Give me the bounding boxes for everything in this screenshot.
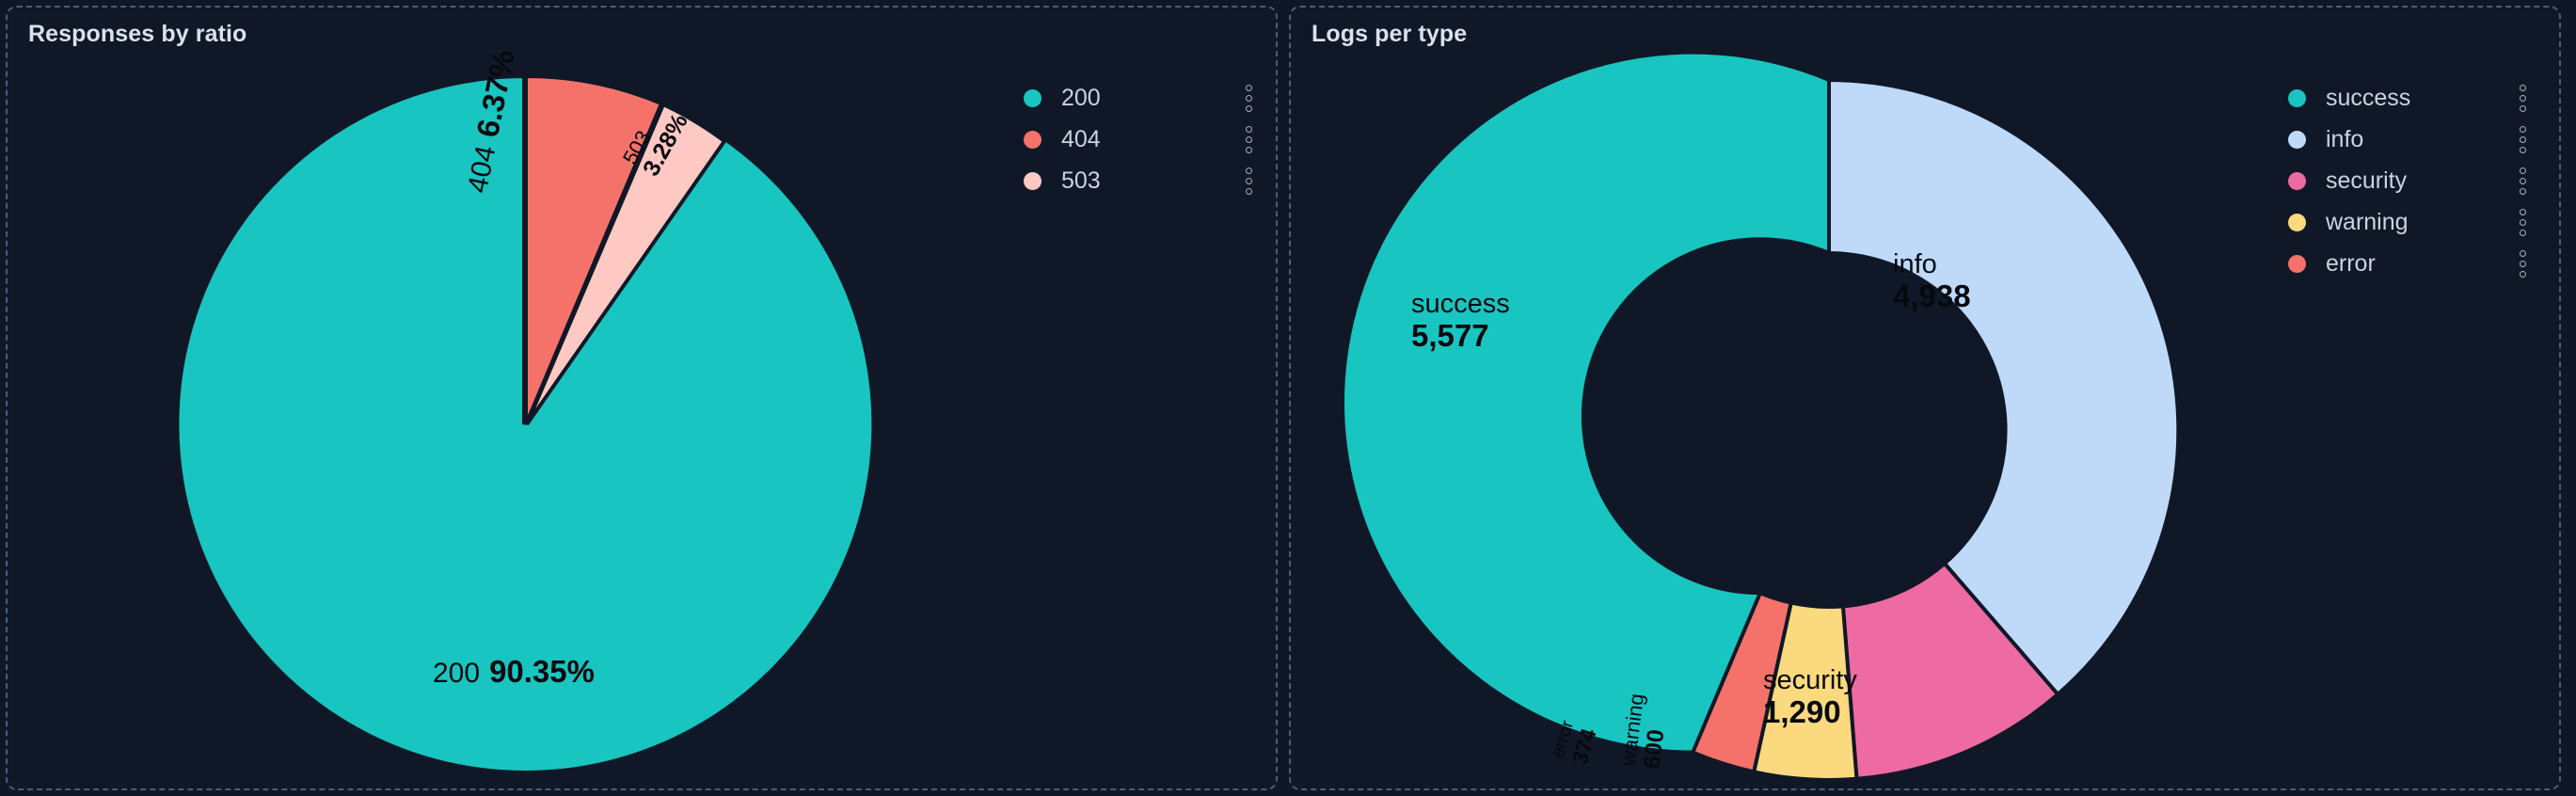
legend-more-options-icon[interactable] bbox=[1238, 125, 1259, 153]
panel-responses-by-ratio: Responses by ratio 20090.35% 4046.37% 50… bbox=[6, 6, 1278, 790]
legend-item-warning[interactable]: warning bbox=[2288, 201, 2533, 243]
legend-color-swatch-icon bbox=[2288, 172, 2306, 190]
legend-color-swatch-icon bbox=[2288, 214, 2306, 231]
legend-item-security[interactable]: security bbox=[2288, 160, 2533, 201]
legend-more-options-icon[interactable] bbox=[2512, 84, 2533, 112]
legend-logs: success info security warning error bbox=[2288, 77, 2533, 284]
legend-color-swatch-icon bbox=[2288, 89, 2306, 107]
legend-label: 404 bbox=[1061, 126, 1238, 153]
legend-more-options-icon[interactable] bbox=[2512, 249, 2533, 278]
legend-label: success bbox=[2326, 85, 2512, 112]
legend-color-swatch-icon bbox=[1024, 172, 1042, 190]
legend-color-swatch-icon bbox=[2288, 255, 2306, 273]
legend-more-options-icon[interactable] bbox=[2512, 125, 2533, 153]
legend-color-swatch-icon bbox=[1024, 131, 1042, 149]
legend-item-success[interactable]: success bbox=[2288, 77, 2533, 119]
legend-label: 503 bbox=[1061, 167, 1238, 195]
legend-color-swatch-icon bbox=[2288, 131, 2306, 149]
legend-item-503[interactable]: 503 bbox=[1024, 160, 1259, 201]
legend-label: warning bbox=[2326, 209, 2512, 236]
legend-label: info bbox=[2326, 126, 2512, 153]
legend-item-200[interactable]: 200 bbox=[1024, 77, 1259, 119]
legend-item-error[interactable]: error bbox=[2288, 243, 2533, 284]
legend-responses: 200 404 503 bbox=[1024, 77, 1259, 201]
legend-more-options-icon[interactable] bbox=[1238, 84, 1259, 112]
legend-more-options-icon[interactable] bbox=[2512, 208, 2533, 236]
dashboard-panel-row: Responses by ratio 20090.35% 4046.37% 50… bbox=[0, 0, 2576, 796]
legend-label: security bbox=[2326, 167, 2512, 195]
legend-more-options-icon[interactable] bbox=[1238, 167, 1259, 195]
legend-color-swatch-icon bbox=[1024, 89, 1042, 107]
panel-logs-per-type: Logs per type success 5, bbox=[1289, 6, 2561, 790]
legend-item-404[interactable]: 404 bbox=[1024, 119, 1259, 160]
legend-label: error bbox=[2326, 250, 2512, 278]
legend-more-options-icon[interactable] bbox=[2512, 167, 2533, 195]
legend-label: 200 bbox=[1061, 85, 1238, 112]
legend-item-info[interactable]: info bbox=[2288, 119, 2533, 160]
